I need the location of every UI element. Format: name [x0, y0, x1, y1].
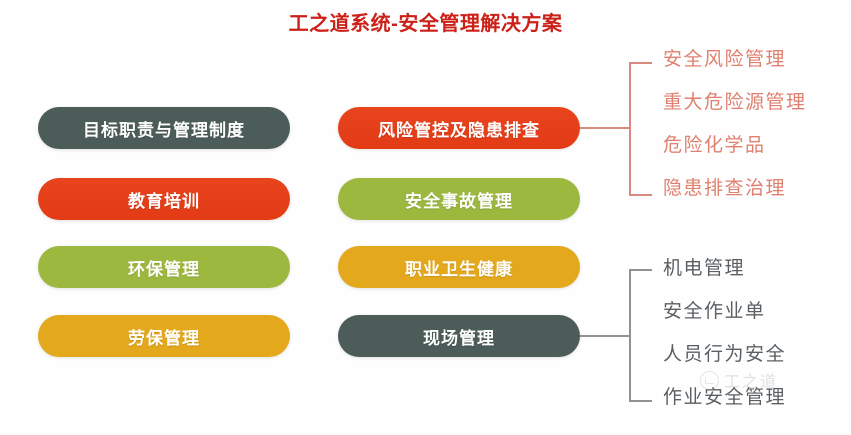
module-label: 劳保管理: [128, 324, 200, 349]
detail-item[interactable]: 人员行为安全: [663, 345, 786, 364]
module-box-objectives-responsibilities[interactable]: 目标职责与管理制度: [38, 107, 290, 149]
module-box-site-management[interactable]: 现场管理: [338, 315, 580, 357]
bracket-risk-group: [580, 63, 652, 195]
bracket-site-group: [580, 270, 652, 401]
module-box-occupational-health[interactable]: 职业卫生健康: [338, 246, 580, 288]
detail-item[interactable]: 安全风险管理: [663, 50, 807, 69]
module-label: 目标职责与管理制度: [83, 116, 245, 141]
module-box-education-training[interactable]: 教育培训: [38, 178, 290, 220]
detail-item[interactable]: 危险化学品: [663, 136, 807, 155]
module-box-safety-accident-management[interactable]: 安全事故管理: [338, 178, 580, 220]
page-title: 工之道系统-安全管理解决方案: [0, 7, 851, 36]
detail-list-site-group: 机电管理 安全作业单 人员行为安全 作业安全管理: [663, 259, 786, 431]
detail-item[interactable]: 安全作业单: [663, 302, 786, 321]
module-label: 教育培训: [128, 187, 200, 212]
module-label: 现场管理: [423, 324, 495, 349]
module-label: 环保管理: [128, 255, 200, 280]
detail-item[interactable]: 作业安全管理: [663, 388, 786, 407]
detail-list-risk-group: 安全风险管理 重大危险源管理 危险化学品 隐患排查治理: [663, 50, 807, 222]
module-label: 安全事故管理: [405, 187, 513, 212]
diagram-canvas: 工之道系统-安全管理解决方案 目标职责与管理制度 教育培训 环保管理 劳保管理 …: [0, 0, 851, 435]
detail-item[interactable]: 重大危险源管理: [663, 93, 807, 112]
bracket-risk-body: [630, 63, 652, 195]
detail-item[interactable]: 隐患排查治理: [663, 179, 807, 198]
bracket-site-body: [630, 270, 652, 401]
detail-item[interactable]: 机电管理: [663, 259, 786, 278]
module-box-labor-protection[interactable]: 劳保管理: [38, 315, 290, 357]
module-box-risk-control-hazard-investigation[interactable]: 风险管控及隐患排查: [338, 107, 580, 149]
module-label: 职业卫生健康: [405, 255, 513, 280]
module-box-environmental-management[interactable]: 环保管理: [38, 246, 290, 288]
module-label: 风险管控及隐患排查: [378, 116, 540, 141]
